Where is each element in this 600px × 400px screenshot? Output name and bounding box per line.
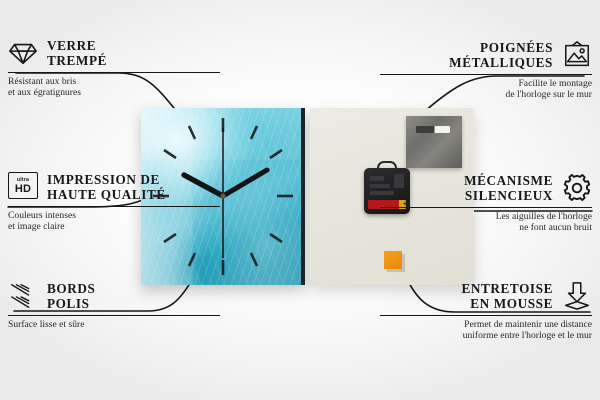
polished-edges-icon (8, 281, 38, 311)
infographic-canvas: + VERRE TREMPÉ Résistant aux bris (0, 0, 600, 400)
feature-subtitle-line1: Permet de maintenir une distance (380, 319, 592, 330)
feature-title: POIGNÉES MÉTALLIQUES (449, 40, 553, 70)
feature-divider (8, 315, 220, 316)
feature-poignees-metalliques: POIGNÉES MÉTALLIQUES Facilite le montage… (380, 40, 592, 101)
mechanism-hanger-loop (377, 161, 397, 171)
feature-header: ultra HD IMPRESSION DE HAUTE QUALITÉ (8, 172, 220, 202)
feature-subtitle-line2: de l'horloge sur le mur (380, 89, 592, 100)
feature-mecanisme-silencieux: MÉCANISME SILENCIEUX Les aiguilles de l'… (380, 173, 592, 234)
feature-verre-trempe: VERRE TREMPÉ Résistant aux bris et aux é… (8, 38, 220, 99)
down-arrow-stack-icon (562, 281, 592, 311)
feature-subtitle-line2: et image claire (8, 221, 220, 232)
feature-header: BORDS POLIS (8, 281, 220, 311)
feature-subtitle-line1: Surface lisse et sûre (8, 319, 220, 330)
gear-icon (562, 173, 592, 203)
hanger-keyhole-slot (416, 126, 450, 133)
feature-title: VERRE TREMPÉ (47, 38, 107, 68)
feature-title: BORDS POLIS (47, 281, 95, 311)
feature-title: ENTRETOISE EN MOUSSE (461, 281, 553, 311)
foam-spacer-square (384, 251, 402, 269)
feature-subtitle-line1: Facilite le montage (380, 78, 592, 89)
feature-subtitle-line1: Résistant aux bris (8, 76, 220, 87)
feature-subtitle-line2: et aux égratignures (8, 87, 220, 98)
framed-picture-hanger-icon (562, 40, 592, 70)
metal-hanger-plate (406, 116, 462, 168)
feature-header: VERRE TREMPÉ (8, 38, 220, 68)
feature-subtitle-line2: ne font aucun bruit (380, 222, 592, 233)
feature-title: IMPRESSION DE HAUTE QUALITÉ (47, 172, 166, 202)
diamond-icon (8, 38, 38, 68)
feature-header: ENTRETOISE EN MOUSSE (380, 281, 592, 311)
feature-divider (380, 207, 592, 208)
feature-divider (8, 206, 220, 207)
feature-subtitle-line1: Couleurs intenses (8, 210, 220, 221)
feature-divider (380, 315, 592, 316)
feature-impression-haute-qualite: ultra HD IMPRESSION DE HAUTE QUALITÉ Cou… (8, 172, 220, 233)
feature-divider (8, 72, 220, 73)
feature-title: MÉCANISME SILENCIEUX (464, 173, 553, 203)
feature-divider (380, 74, 592, 75)
feature-header: MÉCANISME SILENCIEUX (380, 173, 592, 203)
feature-subtitle-line1: Les aiguilles de l'horloge (380, 211, 592, 222)
feature-bords-polis: BORDS POLIS Surface lisse et sûre (8, 281, 220, 330)
feature-entretoise-en-mousse: ENTRETOISE EN MOUSSE Permet de maintenir… (380, 281, 592, 342)
ultra-hd-icon: ultra HD (8, 172, 38, 202)
feature-subtitle-line2: uniforme entre l'horloge et le mur (380, 330, 592, 341)
feature-header: POIGNÉES MÉTALLIQUES (380, 40, 592, 70)
